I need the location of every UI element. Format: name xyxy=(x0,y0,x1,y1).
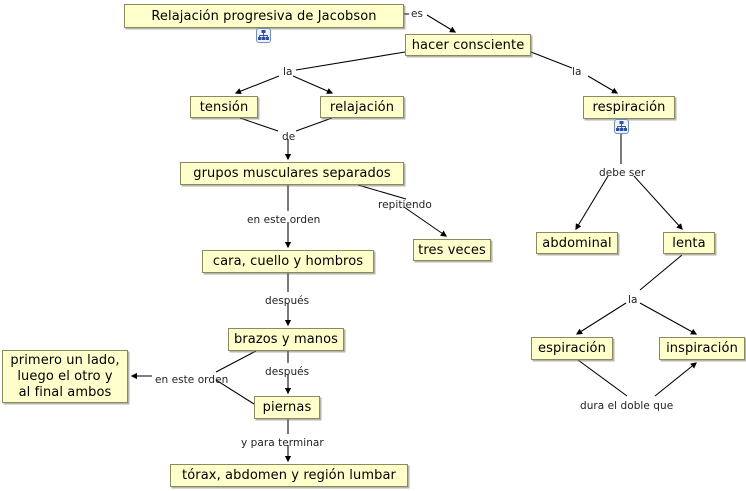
node-tres-veces[interactable]: tres veces xyxy=(413,239,491,261)
tree-icon[interactable] xyxy=(256,28,271,43)
edge-tension-de xyxy=(240,118,278,131)
node-grupos-musculares-separados[interactable]: grupos musculares separados xyxy=(180,162,404,185)
edge-label-la-2: la xyxy=(572,66,581,78)
edge-repitiendo-tresveces xyxy=(404,207,446,236)
edge-espiracion-dura xyxy=(578,360,627,396)
node-hacer-consciente[interactable]: hacer consciente xyxy=(405,34,531,56)
node-root[interactable]: Relajación progresiva de Jacobson xyxy=(124,4,404,28)
edge-debeser-abdominal xyxy=(576,176,608,229)
edge-label-de: de xyxy=(282,131,295,143)
node-inspiracion[interactable]: inspiración xyxy=(659,337,745,360)
edge-grupos-repitiendo xyxy=(358,185,406,199)
concept-map-canvas: Relajación progresiva de Jacobson hacer … xyxy=(0,0,746,491)
edge-la1-relajacion xyxy=(293,76,332,93)
node-brazos-y-manos[interactable]: brazos y manos xyxy=(228,328,344,351)
node-relajacion[interactable]: relajación xyxy=(320,96,404,118)
node-abdominal[interactable]: abdominal xyxy=(536,232,618,254)
edge-label-repitiendo: repitiendo xyxy=(378,199,432,211)
edge-la2-respiracion xyxy=(588,76,617,93)
edge-la1-tension xyxy=(236,76,279,93)
edge-label-es: es xyxy=(411,8,423,20)
node-cara-cuello-hombros[interactable]: cara, cuello y hombros xyxy=(202,250,374,273)
edge-label-despues-1: después xyxy=(265,295,309,307)
edge-label-despues-2: después xyxy=(265,366,309,378)
node-espiracion[interactable]: espiración xyxy=(531,337,613,360)
edge-es-consciente xyxy=(427,15,455,32)
edge-label-en-este-orden-2: en este orden xyxy=(155,374,228,386)
edge-consciente-la2 xyxy=(531,52,572,68)
node-respiracion[interactable]: respiración xyxy=(583,96,675,119)
edge-label-en-este-orden: en este orden xyxy=(247,214,320,226)
edge-la3-inspiracion xyxy=(640,303,696,334)
node-primero-un-lado[interactable]: primero un lado, luego el otro y al fina… xyxy=(2,350,128,403)
edge-la3-espiracion xyxy=(577,303,626,334)
node-piernas[interactable]: piernas xyxy=(254,396,320,419)
edge-debeser-lenta xyxy=(634,176,682,229)
edge-label-y-para-terminar: y para terminar xyxy=(241,437,324,449)
node-tension[interactable]: tensión xyxy=(190,96,258,118)
edge-consciente-la1 xyxy=(296,52,405,70)
edge-label-la-1: la xyxy=(283,66,292,78)
node-torax-abdomen-lumbar[interactable]: tórax, abdomen y región lumbar xyxy=(170,464,408,487)
node-lenta[interactable]: lenta xyxy=(663,232,715,254)
concept-map-edges xyxy=(0,0,746,491)
edge-brazos-orden2 xyxy=(216,351,256,372)
edge-label-la-3: la xyxy=(628,294,637,306)
edge-lenta-la3 xyxy=(640,255,682,290)
tree-icon[interactable] xyxy=(614,119,629,134)
edge-label-dura-el-doble-que: dura el doble que xyxy=(580,400,673,412)
edge-label-debe-ser: debe ser xyxy=(599,167,645,179)
edge-dura-inspiracion xyxy=(655,363,696,396)
edge-relajacion-de xyxy=(296,118,332,131)
